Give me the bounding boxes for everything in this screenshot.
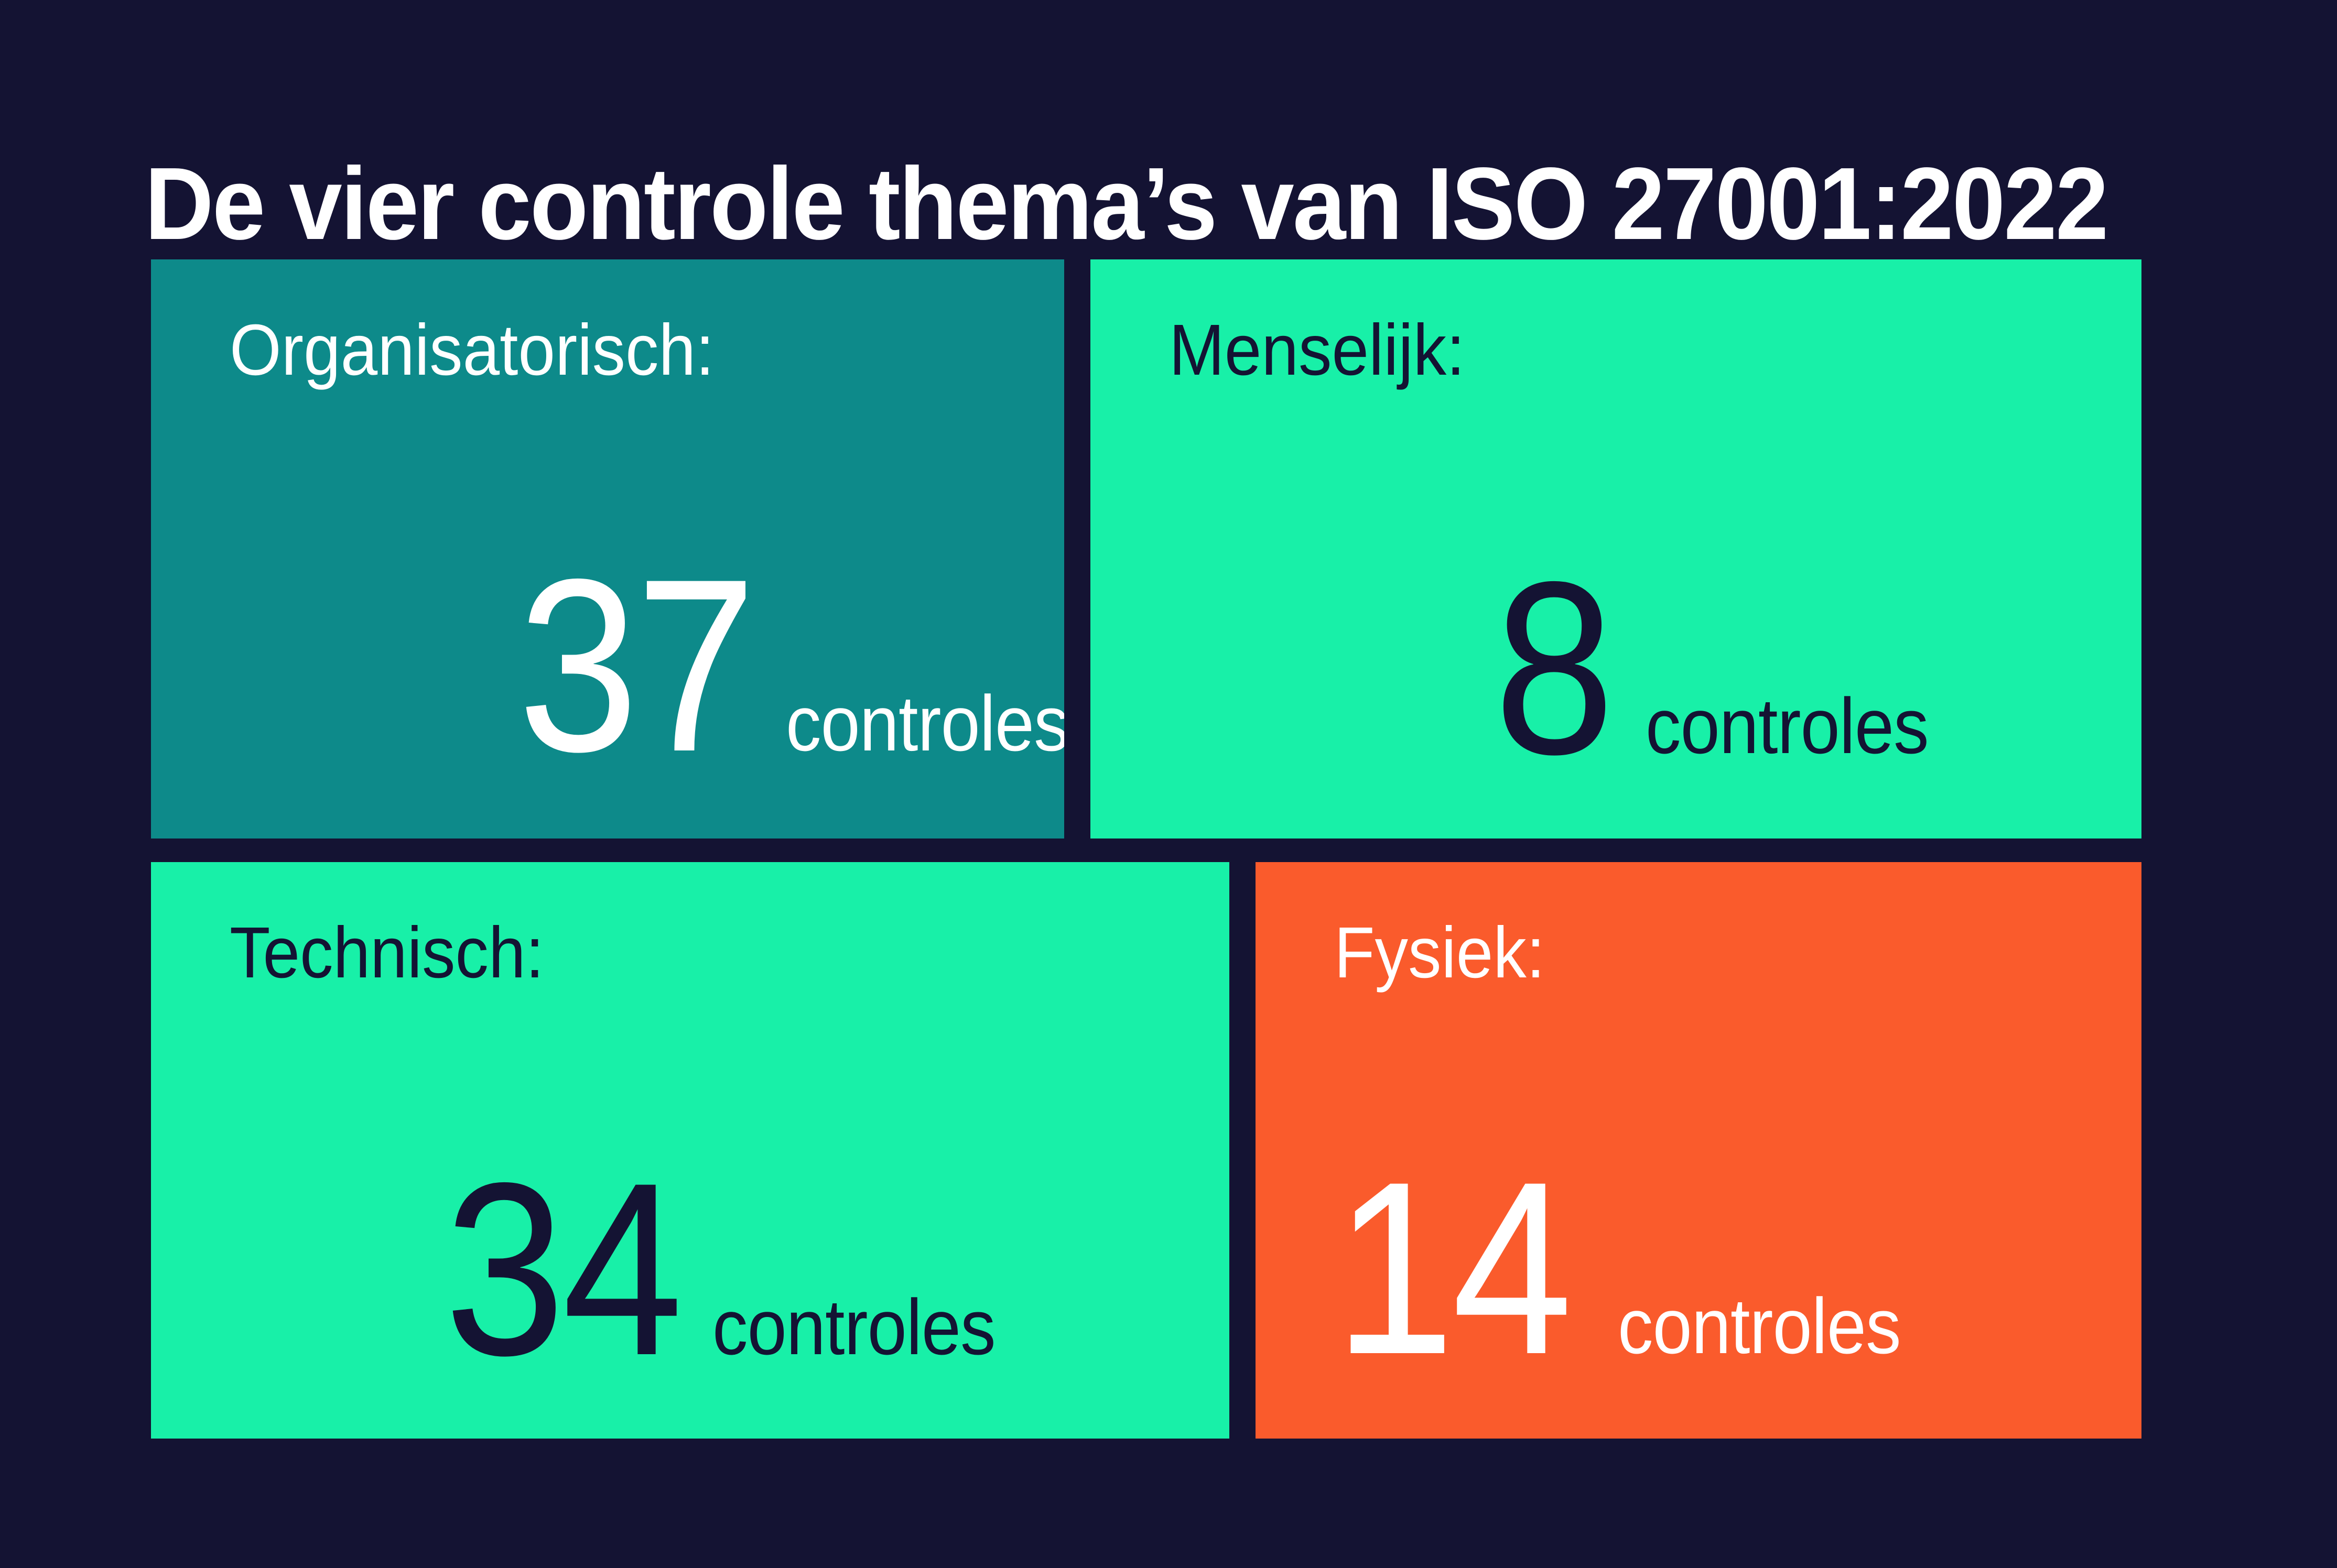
stat-card-organisatorisch: Organisatorisch: 37 controles	[151, 259, 1064, 839]
stat-card-label: Fysiek:	[1334, 913, 1545, 992]
stat-card-label: Organisatorisch:	[230, 311, 714, 389]
stat-card-number: 37	[518, 571, 754, 760]
stat-card-unit: controles	[712, 1288, 996, 1366]
infographic-canvas: De vier controle thema’s van ISO 27001:2…	[0, 0, 2337, 1568]
stat-card-value-row: 14 controles	[1334, 1174, 1932, 1365]
stat-card-unit: controles	[786, 684, 1064, 763]
stat-card-number: 34	[445, 1175, 680, 1364]
stat-card-menselijk: Menselijk: 8 controles	[1090, 259, 2141, 839]
stat-card-unit: controles	[1646, 687, 1929, 765]
page-title: De vier controle thema’s van ISO 27001:2…	[145, 148, 2046, 264]
stat-card-value-row: 37 controles	[518, 571, 1064, 763]
stat-card-technisch: Technisch: 34 controles	[151, 862, 1229, 1439]
stat-card-value-row: 8 controles	[1494, 574, 1960, 765]
stat-card-label: Menselijk:	[1169, 311, 1465, 389]
stat-card-number: 14	[1334, 1174, 1570, 1363]
stat-card-unit: controles	[1618, 1287, 1901, 1365]
stat-card-number: 8	[1494, 574, 1612, 763]
stat-card-label: Technisch:	[230, 913, 544, 992]
stat-card-fysiek: Fysiek: 14 controles	[1256, 862, 2141, 1439]
stat-card-value-row: 34 controles	[445, 1175, 1026, 1366]
